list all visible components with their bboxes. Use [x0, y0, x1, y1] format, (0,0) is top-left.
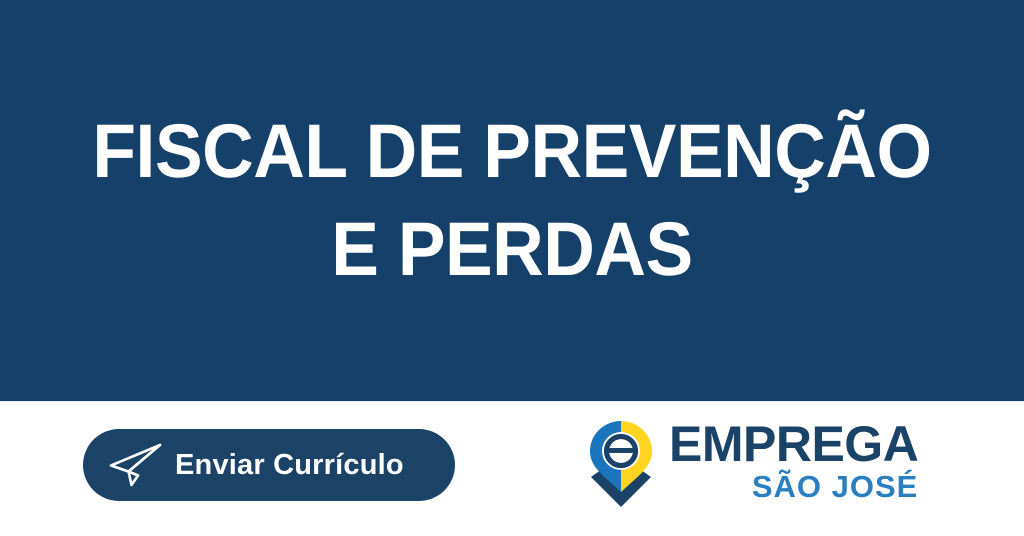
job-posting-banner: FISCAL DE PREVENÇÃO E PERDAS Enviar Curr…: [0, 0, 1024, 536]
send-resume-label: Enviar Currículo: [175, 449, 404, 482]
map-pin-e-icon: [585, 419, 657, 513]
hero-section: FISCAL DE PREVENÇÃO E PERDAS: [0, 0, 1024, 401]
send-resume-button[interactable]: Enviar Currículo: [83, 429, 455, 501]
logo-wordmark: EMPREGA: [669, 420, 918, 469]
footer-bar: Enviar Currículo: [0, 401, 1024, 536]
logo-subtitle: SÃO JOSÉ: [752, 471, 919, 502]
page-title-line-2: E PERDAS: [31, 212, 994, 288]
page-title: FISCAL DE PREVENÇÃO E PERDAS: [31, 114, 994, 288]
logo-wordmark-group: EMPREGA SÃO JOSÉ: [669, 420, 918, 502]
page-title-line-1: FISCAL DE PREVENÇÃO: [31, 114, 994, 190]
paper-plane-icon: [105, 441, 165, 489]
emprega-sao-jose-logo[interactable]: EMPREGA SÃO JOSÉ: [585, 416, 925, 522]
